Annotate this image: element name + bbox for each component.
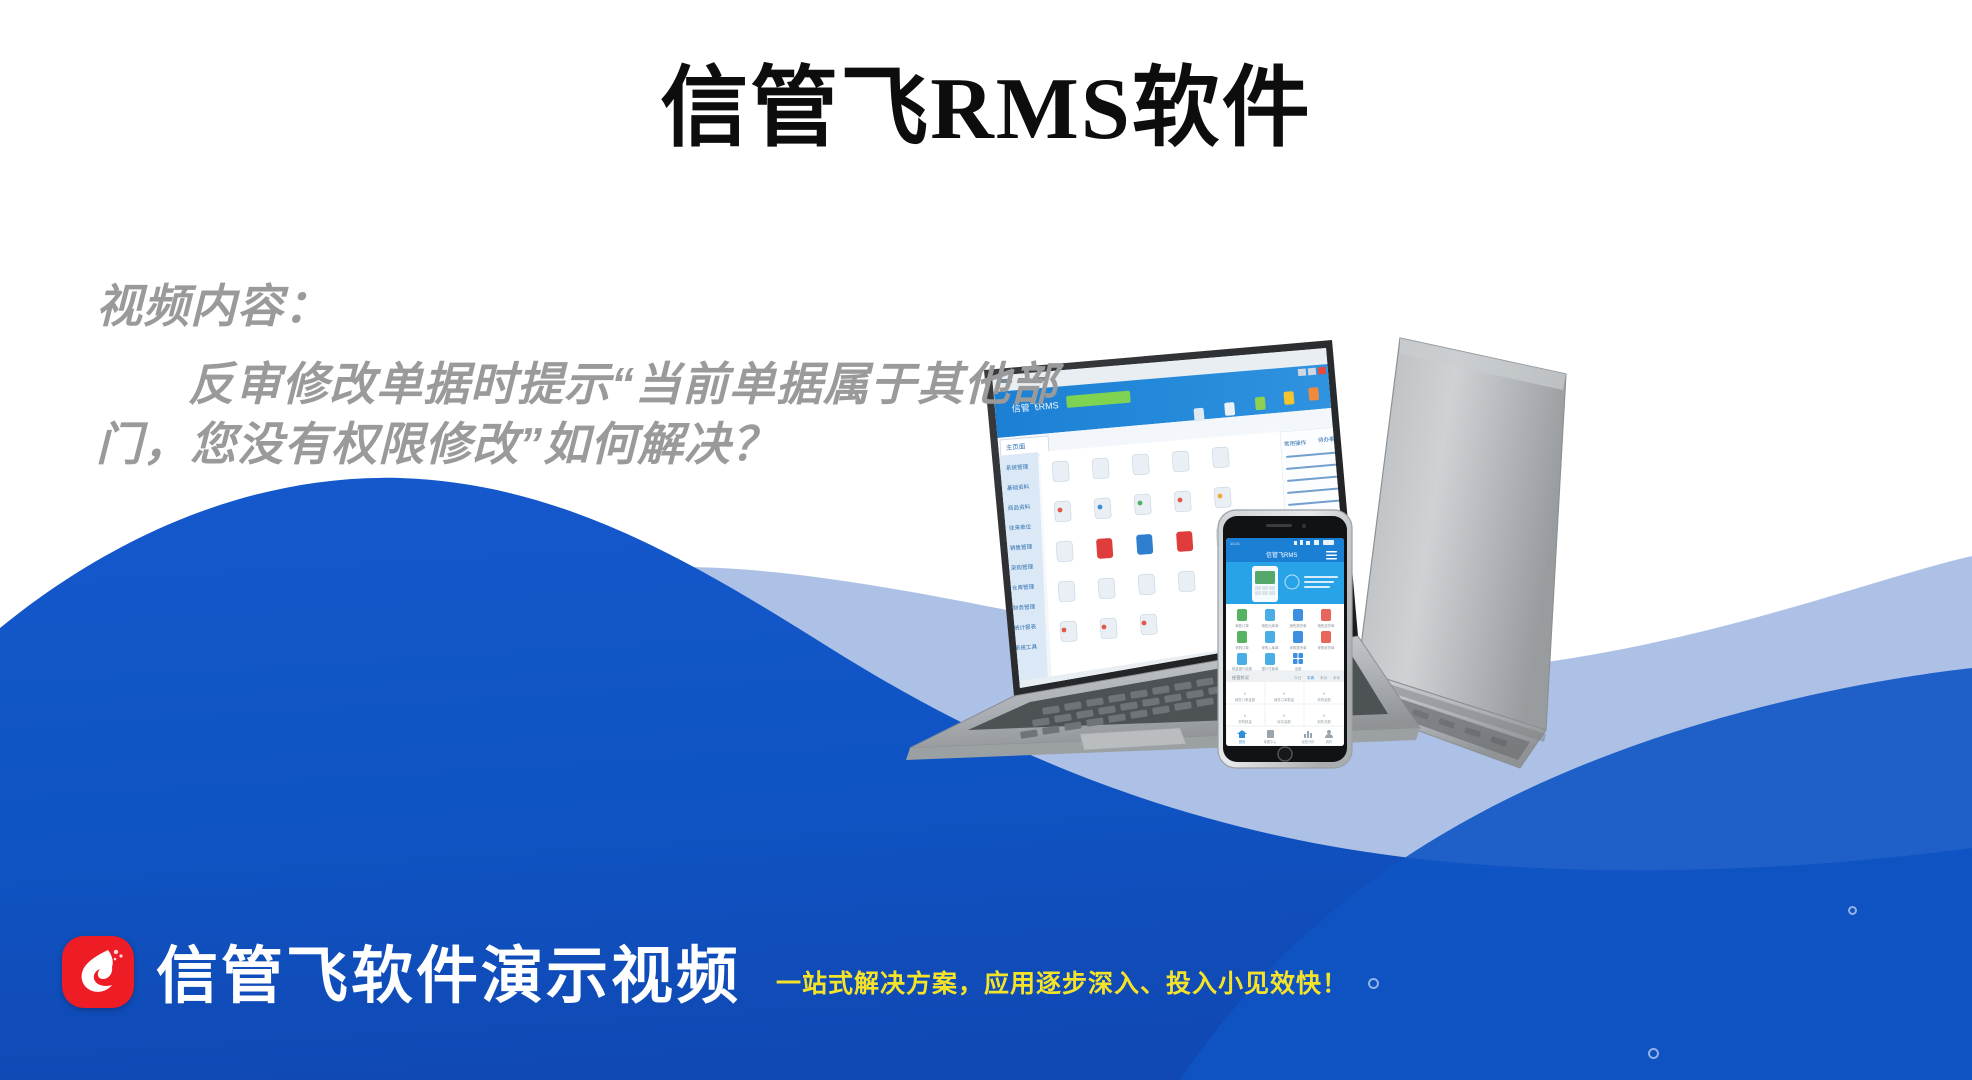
- svg-text:全部: 全部: [1295, 666, 1302, 671]
- svg-text:库存金额: 库存金额: [1277, 719, 1291, 724]
- svg-text:我的: 我的: [1326, 739, 1332, 744]
- phone-home-button: [1278, 747, 1292, 761]
- svg-text:销售订单数量: 销售订单数量: [1274, 697, 1295, 702]
- svg-text:信管飞RMS: 信管飞RMS: [1266, 551, 1297, 559]
- svg-text:首页: 首页: [1239, 739, 1245, 744]
- page-title: 信管飞RMS软件: [0, 62, 1972, 159]
- brand-tagline: 一站式解决方案，应用逐步深入、投入小见效快！: [776, 964, 1348, 1000]
- svg-text:¥: ¥: [1283, 714, 1285, 718]
- phone-camera-icon: [1302, 524, 1306, 528]
- svg-text:销售退货单: 销售退货单: [1290, 623, 1308, 628]
- svg-text:本月: 本月: [1320, 675, 1327, 680]
- xingguanfei-bird-logo-icon: [62, 936, 134, 1008]
- svg-text:销售订单: 销售订单: [1235, 623, 1249, 628]
- svg-text:¥: ¥: [1244, 692, 1246, 696]
- svg-text:今日: 今日: [1294, 675, 1301, 680]
- video-content-description: 反审修改单据时提示“当前单据属于其他部门，您没有权限修改”如何解决？: [96, 354, 1116, 475]
- svg-text:采购入库单: 采购入库单: [1262, 645, 1280, 650]
- svg-text:经营分析: 经营分析: [1302, 739, 1316, 744]
- svg-text:经营状况: 经营状况: [1232, 674, 1250, 681]
- svg-text:本周: 本周: [1307, 675, 1315, 680]
- svg-text:现金银行收款: 现金银行收款: [1232, 666, 1253, 671]
- brand-row: 信管飞软件演示视频: [62, 936, 741, 1008]
- decorative-dot-1: [1368, 978, 1379, 989]
- svg-text:采购数量: 采购数量: [1238, 719, 1252, 724]
- decorative-dot-3: [1848, 906, 1857, 915]
- svg-text:销售订单金额: 销售订单金额: [1235, 697, 1256, 702]
- svg-text:采购收货单: 采购收货单: [1318, 645, 1336, 650]
- phone-screen-content: 10:21 信管飞RMS: [1226, 538, 1344, 746]
- document-icon: [1267, 730, 1274, 738]
- presentation-slide: 信管飞RMS软件 视频内容： 反审修改单据时提示“当前单据属于其他部门，您没有权…: [0, 0, 1972, 1080]
- svg-text:采购退货单: 采购退货单: [1290, 645, 1308, 650]
- svg-text:银行付款单: 银行付款单: [1262, 666, 1280, 671]
- phone-earpiece: [1266, 524, 1292, 527]
- svg-text:单据中心: 单据中心: [1264, 739, 1278, 744]
- phone-mockup: 10:21 信管飞RMS: [1218, 510, 1352, 768]
- svg-text:采购订单: 采购订单: [1235, 645, 1249, 650]
- svg-text:¥: ¥: [1323, 714, 1325, 718]
- svg-text:¥: ¥: [1283, 692, 1285, 696]
- svg-text:本年: 本年: [1333, 675, 1341, 680]
- phone-hamburger-menu-icon: [1326, 551, 1337, 560]
- svg-text:采购金额: 采购金额: [1317, 697, 1331, 702]
- video-content-label: 视频内容：: [96, 278, 1116, 336]
- svg-text:销售总额: 销售总额: [1317, 719, 1331, 724]
- content-text-block: 视频内容： 反审修改单据时提示“当前单据属于其他部门，您没有权限修改”如何解决？: [96, 278, 1116, 475]
- svg-text:¥: ¥: [1323, 692, 1325, 696]
- svg-text:销售出库单: 销售出库单: [1262, 623, 1280, 628]
- svg-text:销售送货单: 销售送货单: [1318, 623, 1336, 628]
- brand-name: 信管飞软件演示视频: [156, 946, 741, 1008]
- decorative-dot-2: [1648, 1048, 1659, 1059]
- svg-text:10:21: 10:21: [1230, 541, 1241, 546]
- svg-text:¥: ¥: [1244, 714, 1246, 718]
